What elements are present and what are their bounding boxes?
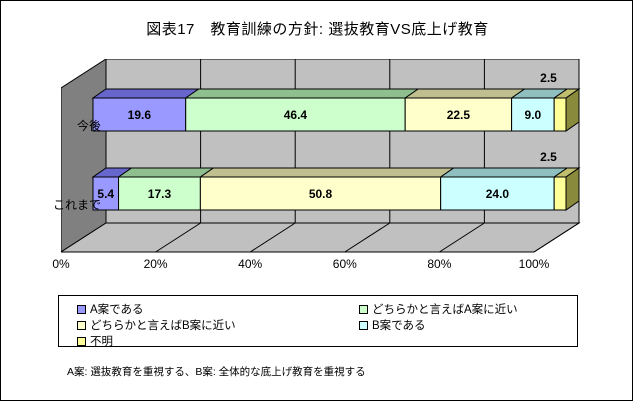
x-axis-tick-label: 20% (133, 257, 179, 271)
bar-value-label: 50.8 (200, 177, 440, 210)
legend-swatch-icon (77, 321, 86, 330)
legend-item[interactable]: B案である (359, 317, 426, 333)
legend-label: A案である (90, 301, 144, 317)
legend-label: B案である (372, 317, 426, 333)
bar-value-label: 2.5 (540, 150, 557, 164)
footnote: A案: 選抜教育を重視する、B案: 全体的な底上げ教育を重視する (67, 364, 366, 379)
legend-swatch-icon (359, 321, 368, 330)
legend-swatch-icon (77, 337, 86, 346)
bar-row-shapes (61, 59, 581, 255)
plot-area: 19.646.422.59.02.55.417.350.824.02.5 (61, 59, 581, 255)
x-axis-tick-label: 40% (227, 257, 273, 271)
legend-label: どちらかと言えばB案に近い (90, 317, 236, 333)
category-label: これまで (1, 196, 101, 213)
legend-label: どちらかと言えばA案に近い (372, 301, 518, 317)
chart-figure: 図表17 教育訓練の方針: 選抜教育VS底上げ教育 19.646.422.59.… (0, 0, 633, 401)
bar-value-label: 17.3 (119, 177, 201, 210)
legend-item[interactable]: 不明 (77, 333, 113, 349)
x-axis-tick-label: 100% (511, 257, 557, 271)
legend-label: 不明 (90, 333, 113, 349)
page-title: 図表17 教育訓練の方針: 選抜教育VS底上げ教育 (1, 18, 633, 39)
x-axis-tick-label: 60% (322, 257, 368, 271)
legend-item[interactable]: A案である (77, 301, 144, 317)
legend-swatch-icon (77, 305, 86, 314)
bar-row: 5.417.350.824.02.5 (61, 59, 581, 101)
x-axis-tick-label: 0% (38, 257, 84, 271)
chart-legend: A案であるどちらかと言えばA案に近いどちらかと言えばB案に近いB案である不明 (58, 295, 578, 347)
x-axis-tick-label: 80% (416, 257, 462, 271)
legend-item[interactable]: どちらかと言えばA案に近い (359, 301, 518, 317)
legend-item[interactable]: どちらかと言えばB案に近い (77, 317, 236, 333)
legend-swatch-icon (359, 305, 368, 314)
category-label: 今後 (1, 117, 101, 134)
bar-value-label: 24.0 (441, 177, 555, 210)
